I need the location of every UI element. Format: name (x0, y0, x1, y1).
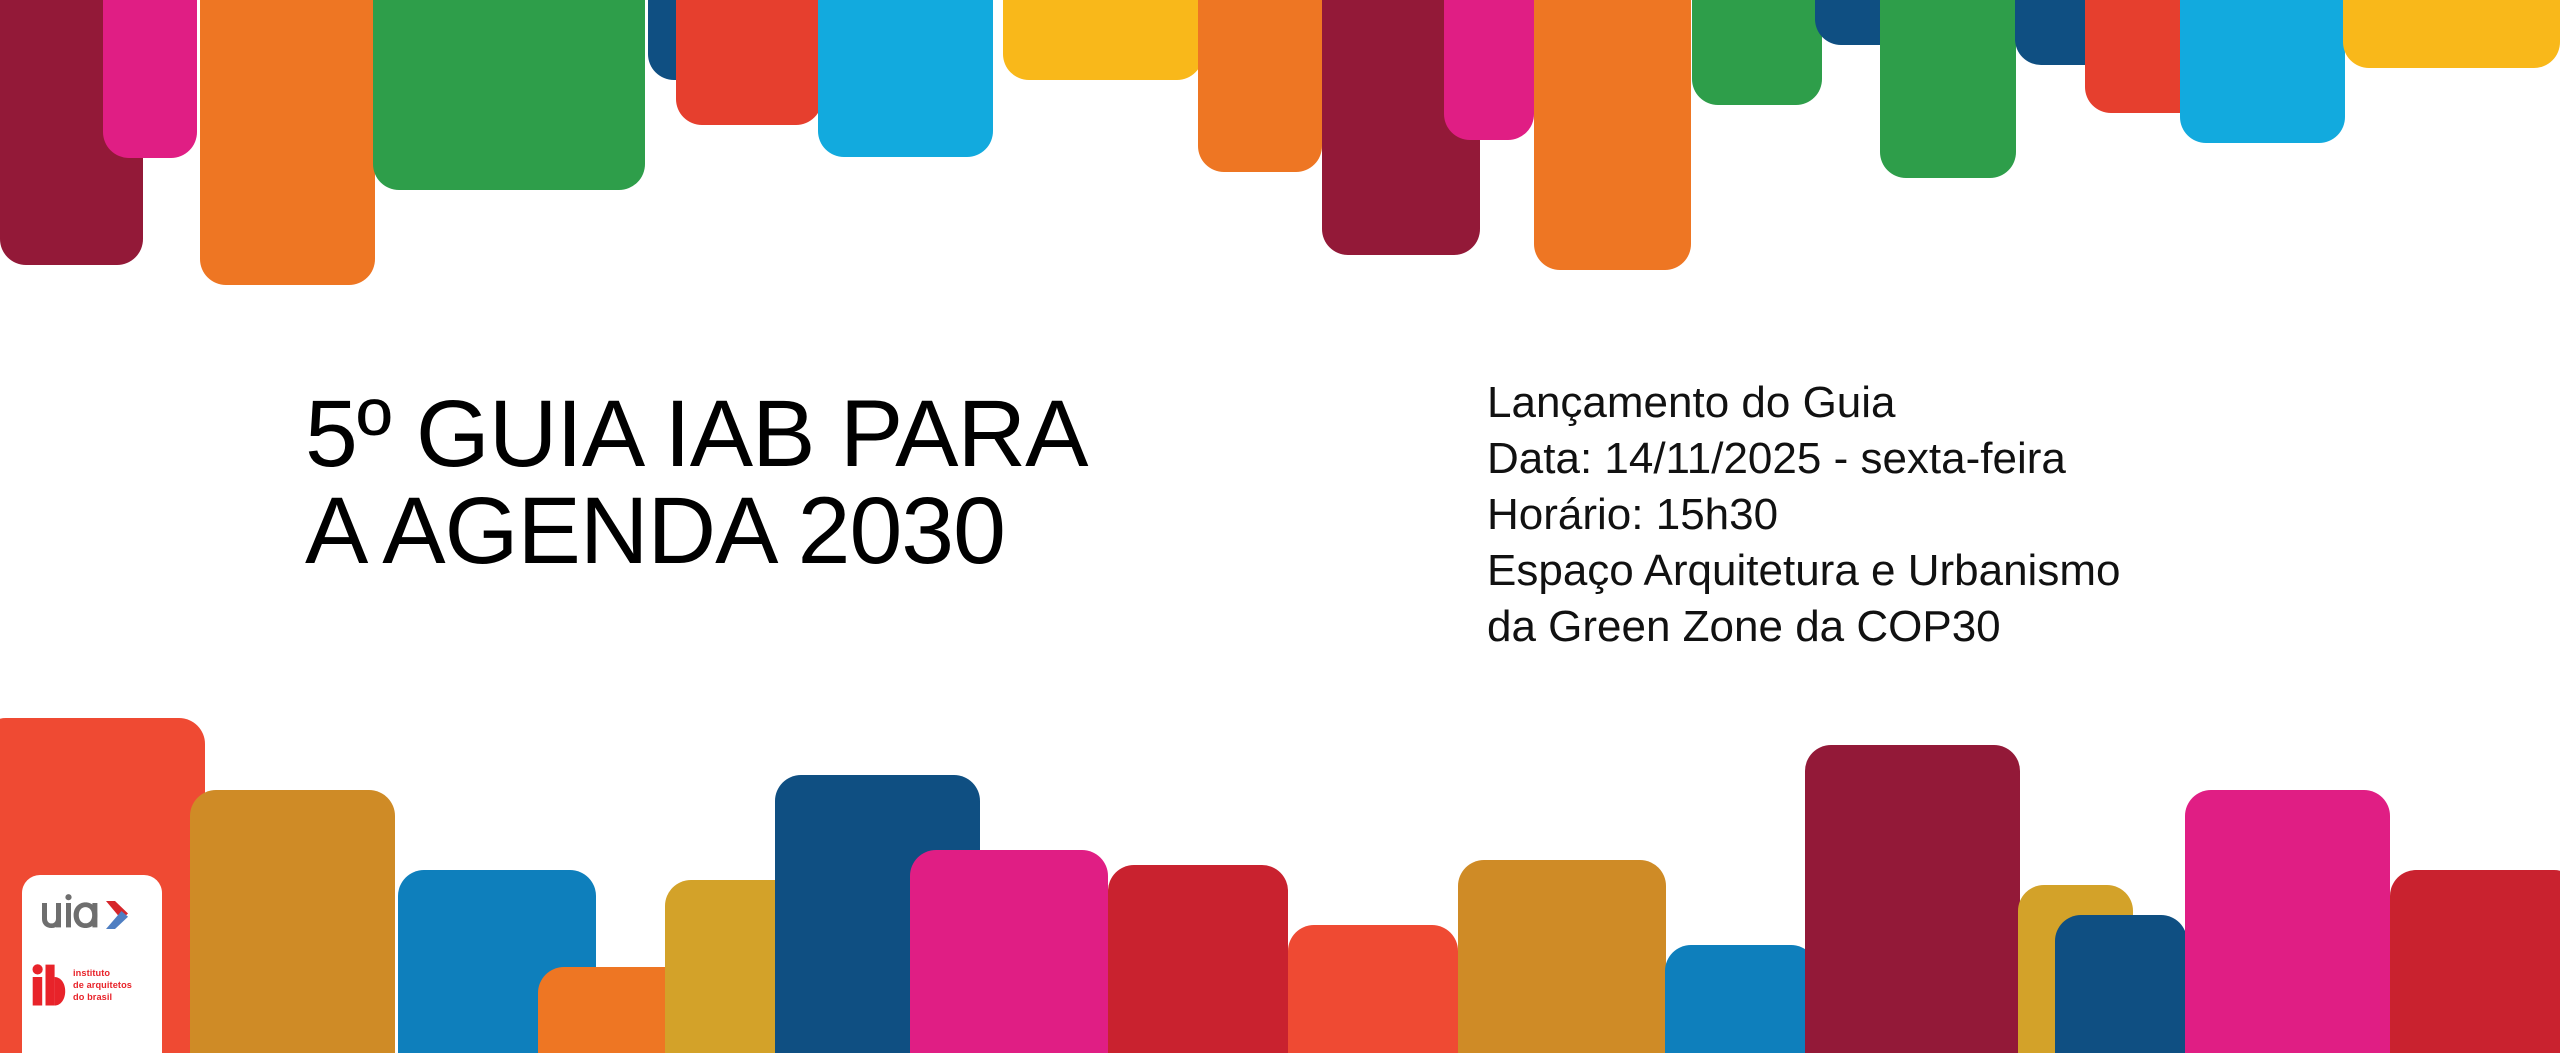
yellow-bar-1 (1003, 0, 1203, 80)
iab-mark-icon (32, 964, 66, 1006)
blue-bar-b2 (1665, 945, 1817, 1053)
green-bar-3 (1880, 0, 2016, 178)
gold-bar-b2 (1458, 860, 1666, 1053)
page-title: 5º GUIA IAB PARA A AGENDA 2030 (305, 386, 1435, 580)
logo-card: instituto de arquitetos do brasil (22, 875, 162, 1053)
bottom-decorative-bars (0, 700, 2560, 1053)
event-detail-location: da Green Zone da COP30 (1487, 599, 2307, 655)
event-details: Lançamento do Guia Data: 14/11/2025 - se… (1487, 375, 2307, 654)
iab-word-line-2: de arquitetos (73, 979, 132, 991)
orange-bar-2 (1198, 0, 1322, 172)
iab-word-line-3: do brasil (73, 991, 132, 1003)
maroon-bar-b1 (1805, 745, 2020, 1053)
uia-logo (38, 893, 148, 933)
iab-logo: instituto de arquitetos do brasil (32, 961, 156, 1009)
green-bar-1 (373, 0, 645, 190)
magenta-bar-2 (1444, 0, 1534, 140)
magenta-bar-1 (103, 0, 197, 158)
navy-bar-b2 (2055, 915, 2187, 1053)
event-detail-date: Data: 14/11/2025 - sexta-feira (1487, 431, 2307, 487)
event-detail-time: Horário: 15h30 (1487, 487, 2307, 543)
crimson-bar-b2 (2390, 870, 2560, 1053)
iab-word-line-1: instituto (73, 967, 132, 979)
crimson-bar-b1 (1108, 865, 1288, 1053)
cyan-bar-1 (818, 0, 993, 157)
red-bar-1 (676, 0, 822, 125)
ochre-bar-b1 (190, 790, 395, 1053)
event-detail-launch: Lançamento do Guia (1487, 375, 2307, 431)
event-banner: 5º GUIA IAB PARA A AGENDA 2030 Lançament… (0, 0, 2560, 1053)
cyan-bar-2 (2180, 0, 2345, 143)
top-decorative-bars (0, 0, 2560, 300)
yellow-bar-2 (2343, 0, 2560, 68)
magenta-bar-b1 (910, 850, 1108, 1053)
event-detail-venue: Espaço Arquitetura e Urbanismo (1487, 543, 2307, 599)
iab-wordmark: instituto de arquitetos do brasil (73, 967, 132, 1004)
orange-bar-1 (200, 0, 375, 285)
green-bar-2 (1692, 0, 1822, 105)
orange-bar-3 (1534, 0, 1691, 270)
scarlet-bar-b1 (1288, 925, 1458, 1053)
magenta-bar-b2 (2185, 790, 2390, 1053)
